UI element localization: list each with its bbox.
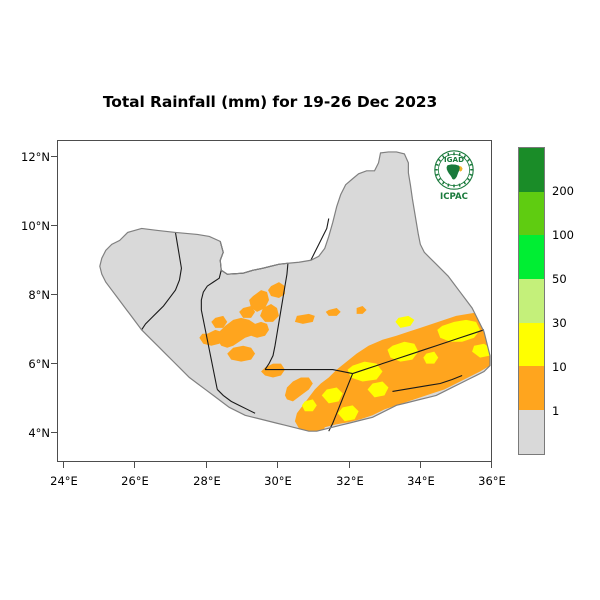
- ytick-mark-6N: [51, 363, 57, 364]
- ytick-label-10N: 10°N: [4, 219, 50, 233]
- ytick-label-8N: 8°N: [4, 288, 50, 302]
- colorbar-tick-50: 50: [552, 272, 567, 286]
- colorbar-band-100-200: [519, 192, 544, 236]
- ytick-label-6N: 6°N: [4, 357, 50, 371]
- rainfall-map-figure: Total Rainfall (mm) for 19-26 Dec 2023: [0, 0, 600, 600]
- ytick-label-12N: 12°N: [4, 150, 50, 164]
- xtick-label-26E: 26°E: [105, 474, 165, 488]
- xtick-label-32E: 32°E: [320, 474, 380, 488]
- colorbar-tick-1: 1: [552, 404, 559, 418]
- xtick-mark-32E: [349, 462, 350, 468]
- xtick-mark-30E: [277, 462, 278, 468]
- colorbar-band-10-30: [519, 323, 544, 367]
- xtick-mark-36E: [491, 462, 492, 468]
- ytick-mark-8N: [51, 294, 57, 295]
- colorbar-band-over-200: [519, 148, 544, 192]
- colorbar-tick-200: 200: [552, 184, 574, 198]
- ytick-mark-12N: [51, 156, 57, 157]
- rainfall-colorbar[interactable]: [518, 147, 545, 455]
- xtick-label-28E: 28°E: [177, 474, 237, 488]
- page-title: Total Rainfall (mm) for 19-26 Dec 2023: [0, 93, 540, 111]
- logo-igad-text: IGAD: [444, 155, 464, 164]
- colorbar-band-1-10: [519, 366, 544, 410]
- ytick-label-4N: 4°N: [4, 426, 50, 440]
- igad-icpac-logo: IGAD ICPAC: [428, 149, 480, 203]
- logo-icpac-text: ICPAC: [440, 192, 468, 202]
- xtick-label-24E: 24°E: [34, 474, 94, 488]
- xtick-mark-34E: [420, 462, 421, 468]
- colorbar-tick-100: 100: [552, 228, 574, 242]
- xtick-label-36E: 36°E: [462, 474, 522, 488]
- xtick-mark-24E: [63, 462, 64, 468]
- colorbar-tick-30: 30: [552, 316, 567, 330]
- igad-icpac-logo-svg: IGAD ICPAC: [428, 149, 480, 203]
- xtick-label-34E: 34°E: [391, 474, 451, 488]
- colorbar-band-under-1: [519, 410, 544, 454]
- colorbar-band-30-50: [519, 279, 544, 323]
- xtick-mark-28E: [206, 462, 207, 468]
- xtick-mark-26E: [134, 462, 135, 468]
- map-plot-area: [57, 140, 492, 462]
- ytick-mark-10N: [51, 225, 57, 226]
- colorbar-band-50-100: [519, 235, 544, 279]
- south-sudan-map: [58, 141, 491, 461]
- ytick-mark-4N: [51, 432, 57, 433]
- xtick-label-30E: 30°E: [248, 474, 308, 488]
- colorbar-tick-10: 10: [552, 360, 567, 374]
